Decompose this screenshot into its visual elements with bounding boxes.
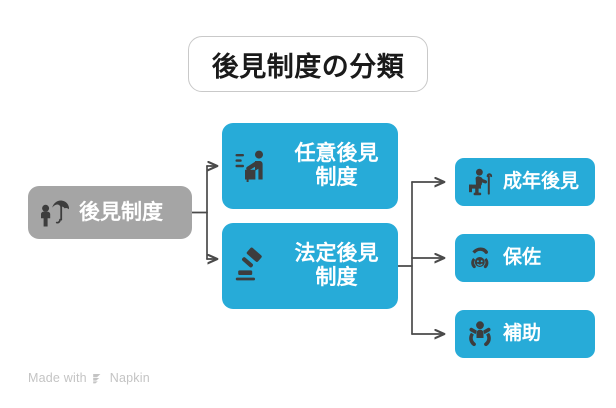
helping-hand-over-person-icon: [465, 243, 495, 273]
watermark-prefix: Made with: [28, 371, 87, 385]
node-adult-guardianship-label: 成年後見: [503, 171, 579, 192]
person-with-umbrella-icon: [38, 197, 72, 229]
node-label-line-1: 任意後見: [295, 142, 379, 165]
person-at-podium-icon: [234, 147, 272, 185]
node-statutory-guardianship[interactable]: 法定後見 制度: [222, 223, 398, 309]
diagram-title-box: 後見制度の分類: [188, 36, 428, 92]
elderly-person-with-cane-icon: [465, 167, 495, 197]
node-assistance-hojo-label: 補助: [503, 323, 541, 344]
node-voluntary-guardianship[interactable]: 任意後見 制度: [222, 123, 398, 209]
node-adult-guardianship[interactable]: 成年後見: [455, 158, 595, 206]
node-statutory-guardianship-label: 法定後見 制度: [281, 242, 398, 289]
node-assistance-hosa-label: 保佐: [503, 247, 541, 268]
node-label-line-2: 制度: [316, 266, 358, 289]
node-voluntary-guardianship-label: 任意後見 制度: [281, 142, 398, 189]
diagram-canvas: 後見制度の分類: [0, 0, 616, 408]
node-assistance-hosa[interactable]: 保佐: [455, 234, 595, 282]
page-title: 後見制度の分類: [212, 45, 405, 84]
napkin-watermark: Made with Napkin: [28, 371, 150, 385]
person-in-cupped-hands-icon: [465, 319, 495, 349]
node-label-line-2: 制度: [316, 166, 358, 189]
node-label-line-1: 法定後見: [295, 242, 379, 265]
gavel-icon: [234, 247, 272, 285]
napkin-chevrons-icon: [92, 372, 105, 385]
node-root-guardianship-system[interactable]: 後見制度: [28, 186, 192, 239]
node-root-label: 後見制度: [79, 201, 163, 225]
node-assistance-hojo[interactable]: 補助: [455, 310, 595, 358]
watermark-brand: Napkin: [110, 371, 150, 385]
